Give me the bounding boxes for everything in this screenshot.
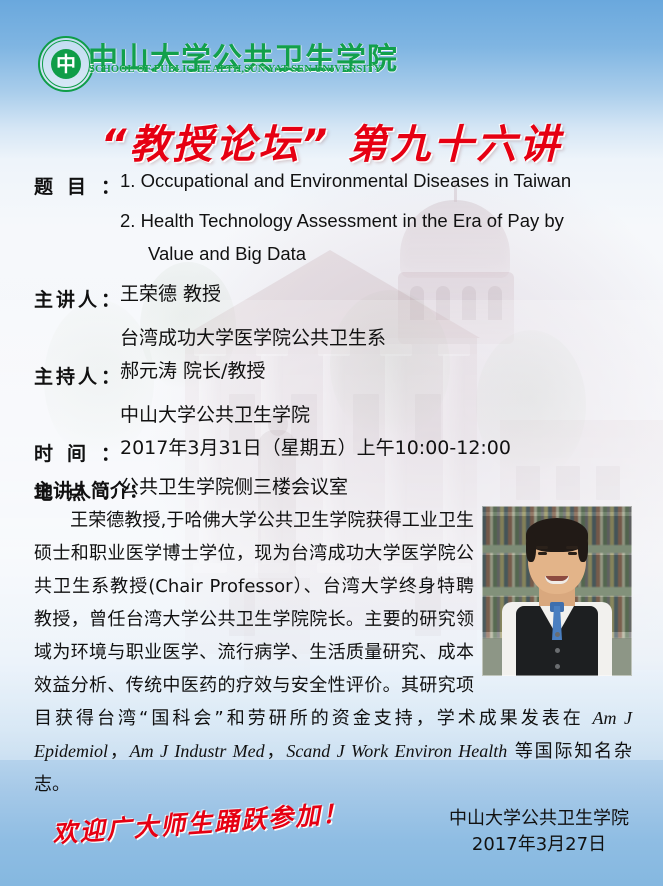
label-host: 主 持 人 ： (34, 362, 120, 389)
topic-line-3: Value and Big Data (120, 243, 634, 265)
speaker-portrait-photo (482, 506, 632, 676)
speaker-affiliation: 台湾成功大学医学院公共卫生系 (120, 323, 634, 350)
sysu-public-health-seal-icon: 中 (38, 36, 94, 92)
school-name-en: SCHOOL OF PUBLIC HEALTH,SUN YAT-SEN UNIV… (89, 64, 381, 75)
speaker-name: 王荣德 教授 (120, 285, 221, 304)
info-row-speaker: 主 讲 人 ： 王荣德 教授 (34, 285, 634, 312)
seal-center-glyph: 中 (51, 49, 81, 79)
page-title: “教授论坛” 第九十六讲 (0, 112, 663, 170)
signoff-org: 中山大学公共卫生学院 (449, 806, 629, 832)
label-speaker: 主 讲 人 ： (34, 285, 120, 312)
speaker-bio: 王荣德教授,于哈佛大学公共卫生学院获得工业卫生硕士和职业医学博士学位，现为台湾成… (34, 504, 632, 801)
poster-signoff: 中山大学公共卫生学院 2017年3月27日 (449, 806, 629, 858)
topic-line-2: 2. Health Technology Assessment in the E… (120, 210, 634, 232)
poster-canvas: 中 中山大学公共卫生学院 SCHOOL OF PUBLIC HEALTH,SUN… (0, 0, 663, 886)
host-name: 郝元涛 院长/教授 (120, 362, 265, 381)
journal-name-3: Scand J Work Environ Health (286, 741, 507, 761)
event-info: 题 目 ： 1. Occupational and Environmental … (34, 172, 634, 509)
journal-separator-1: ， (108, 741, 130, 762)
host-affiliation: 中山大学公共卫生学院 (120, 400, 634, 427)
journal-separator-2: ， (265, 741, 287, 762)
info-row-time: 时 间 ： 2017年3月31日（星期五）上午10:00-12:00 (34, 439, 634, 466)
info-row-topic: 题 目 ： 1. Occupational and Environmental … (34, 172, 634, 199)
place-value: 公共卫生学院侧三楼会议室 (120, 478, 348, 497)
info-row-host: 主 持 人 ： 郝元涛 院长/教授 (34, 362, 634, 389)
topic-line-1: 1. Occupational and Environmental Diseas… (120, 172, 571, 191)
label-topic: 题 目 ： (34, 172, 120, 199)
signoff-date: 2017年3月27日 (449, 832, 629, 858)
poster-header: 中 中山大学公共卫生学院 SCHOOL OF PUBLIC HEALTH,SUN… (0, 0, 663, 103)
label-time: 时 间 ： (34, 439, 120, 466)
bio-heading: 主讲人简介： (34, 476, 148, 503)
journal-name-2: Am J Industr Med (130, 741, 265, 761)
time-value: 2017年3月31日（星期五）上午10:00-12:00 (120, 439, 511, 458)
